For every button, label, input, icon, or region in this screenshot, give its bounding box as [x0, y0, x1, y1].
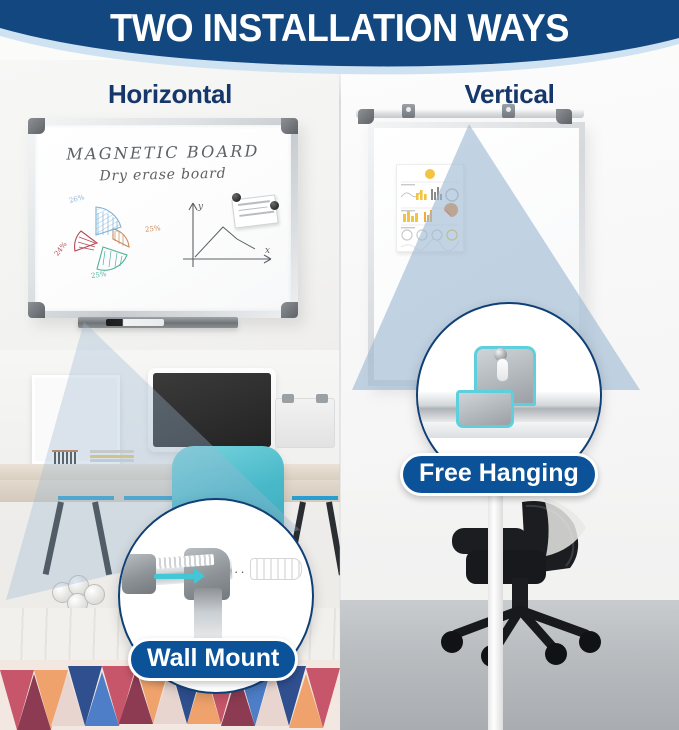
hook-lower-lip [456, 390, 514, 428]
install-arrow-shaft [154, 574, 198, 579]
hanging-clip-icon [402, 104, 415, 118]
easel-top-bar [356, 109, 584, 118]
install-arrow-head [194, 568, 205, 584]
wall-anchor-screw [250, 558, 302, 580]
wall-mount-badge: Wall Mount [128, 638, 298, 681]
dotted-connector: ·· [234, 564, 247, 579]
infographic-page: Horizontal MAGNETIC BOARD Dry erase boar… [0, 0, 679, 730]
frame-corner [556, 109, 572, 124]
page-title: TWO INSTALLATION WAYS [24, 7, 655, 51]
panel-divider [339, 60, 341, 730]
frame-corner [358, 109, 374, 124]
easel-stand-pole [488, 460, 503, 730]
hanging-clip-icon [502, 104, 515, 118]
header-banner: TWO INSTALLATION WAYS [0, 0, 679, 78]
panel-horizontal: Horizontal MAGNETIC BOARD Dry erase boar… [0, 60, 340, 730]
free-hanging-badge: Free Hanging [400, 453, 598, 496]
hook-keyhole-slot [496, 358, 509, 382]
panel-vertical: Vertical [340, 60, 679, 730]
mount-bracket [122, 554, 156, 594]
office-chair-right [426, 492, 616, 682]
